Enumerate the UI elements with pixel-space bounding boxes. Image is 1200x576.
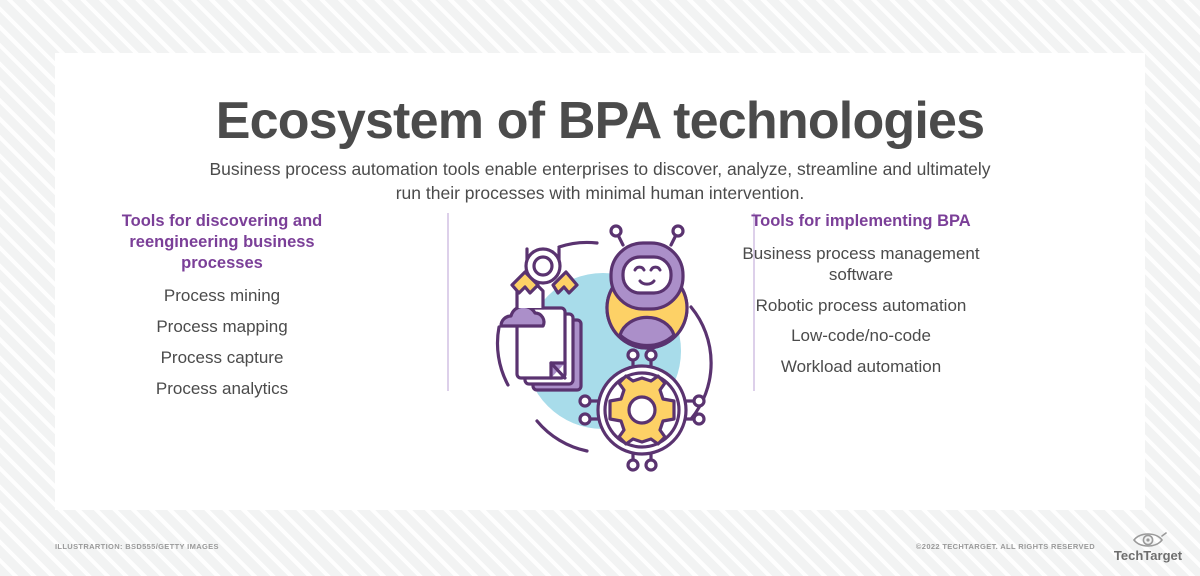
page-title: Ecosystem of BPA technologies — [55, 94, 1145, 149]
infographic-root: Ecosystem of BPA technologies Business p… — [0, 0, 1200, 576]
eye-icon — [1134, 533, 1166, 546]
page-subtitle: Business process automation tools enable… — [200, 157, 1000, 205]
column-implementing-tools: Tools for implementing BPA Business proc… — [727, 211, 995, 388]
list-item: Process mapping — [88, 317, 356, 338]
list-item: Process mining — [88, 286, 356, 307]
list-item: Process analytics — [88, 379, 356, 400]
divider-left — [447, 213, 449, 391]
robot-icon — [607, 226, 687, 348]
copyright-notice: ©2022 TECHTARGET. ALL RIGHTS RESERVED — [916, 542, 1095, 551]
column-discovering-tools: Tools for discovering and reengineering … — [88, 211, 356, 409]
list-item: Process capture — [88, 348, 356, 369]
techtarget-wordmark: TechTarget — [1114, 548, 1183, 563]
list-item: Robotic process automation — [727, 296, 995, 317]
list-item: Workload automation — [727, 357, 995, 378]
bpa-automation-illustration — [455, 223, 745, 483]
techtarget-logo[interactable]: TechTarget — [1106, 527, 1190, 569]
illustration-credit: ILLUSTRARTION: BSD555/GETTY IMAGES — [55, 542, 219, 551]
list-item: Low-code/no-code — [727, 326, 995, 347]
content-card: Ecosystem of BPA technologies Business p… — [55, 53, 1145, 510]
list-item: Business process management software — [727, 244, 995, 285]
column-left-title: Tools for discovering and reengineering … — [88, 211, 356, 274]
column-right-title: Tools for implementing BPA — [727, 211, 995, 232]
